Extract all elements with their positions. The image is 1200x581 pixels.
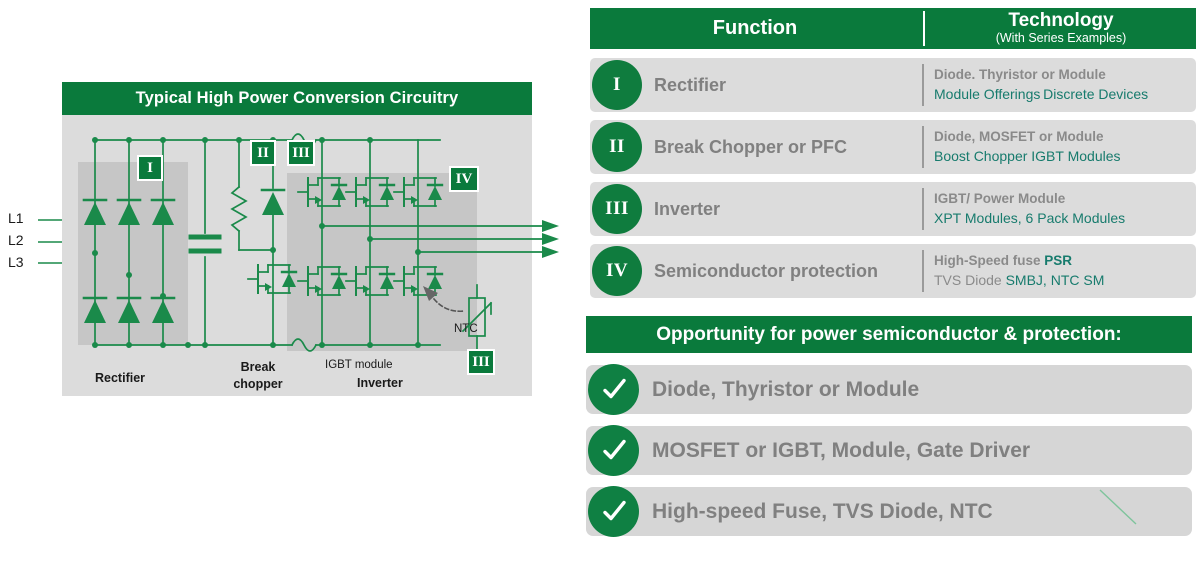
column-header-technology: Technology (With Series Examples)	[926, 8, 1196, 49]
label-ntc: NTC	[454, 323, 478, 335]
opportunity-item-label: MOSFET or IGBT, Module, Gate Driver	[652, 426, 1184, 475]
technology-line-2-gray: TVS Diode	[934, 272, 1006, 288]
table-row[interactable]: II Break Chopper or PFC Diode, MOSFET or…	[590, 120, 1196, 174]
row-function-label: Break Chopper or PFC	[654, 120, 914, 174]
diagram-badge-i: I	[137, 155, 163, 181]
row-technology: High-Speed fuse PSR TVS Diode SMBJ, NTC …	[934, 244, 1192, 298]
technology-line-2: Module Offerings Discrete Devices	[934, 85, 1192, 104]
table-row[interactable]: III Inverter IGBT/ Power Module XPT Modu…	[590, 182, 1196, 236]
table-header: Function Technology (With Series Example…	[590, 8, 1196, 49]
column-header-technology-title: Technology	[1008, 11, 1113, 31]
row-technology: Diode, MOSFET or Module Boost Chopper IG…	[934, 120, 1192, 174]
row-numeral-badge: II	[592, 122, 642, 172]
circuit-body: I II III IV III Rectifier Break chopper …	[62, 115, 532, 396]
label-rectifier: Rectifier	[95, 371, 145, 385]
technology-line-1-gray: Diode. Thyristor or Module	[934, 67, 1106, 82]
technology-line-1-teal: PSR	[1044, 253, 1072, 268]
technology-line-1: Diode, MOSFET or Module	[934, 128, 1192, 146]
table-row[interactable]: I Rectifier Diode. Thyristor or Module M…	[590, 58, 1196, 112]
technology-line-1-gray: Diode, MOSFET or Module	[934, 129, 1104, 144]
technology-line-2: XPT Modules, 6 Pack Modules	[934, 209, 1192, 228]
check-icon	[588, 486, 639, 537]
technology-line-2-teal: XPT Modules, 6 Pack Modules	[934, 210, 1125, 226]
diagram-badge-iv: IV	[449, 166, 479, 192]
technology-line-2-teal: Boost Chopper IGBT Modules	[934, 148, 1121, 164]
table-row[interactable]: IV Semiconductor protection High-Speed f…	[590, 244, 1196, 298]
label-igbt-module: IGBT module	[325, 359, 393, 371]
header-divider	[923, 11, 925, 46]
row-numeral-badge: I	[592, 60, 642, 110]
column-header-function: Function	[590, 8, 920, 49]
circuit-title: Typical High Power Conversion Circuitry	[136, 89, 459, 108]
check-icon	[588, 425, 639, 476]
technology-line-2: TVS Diode SMBJ, NTC SM	[934, 271, 1192, 290]
decorative-diagonal-line	[1100, 490, 1200, 580]
row-technology: Diode. Thyristor or Module Module Offeri…	[934, 58, 1192, 112]
slide-root: L1 L2 L3 Typical High Power Conversion C…	[0, 0, 1200, 581]
diagram-badge-ii: II	[250, 140, 276, 166]
technology-line-2: Boost Chopper IGBT Modules	[934, 147, 1192, 166]
opportunity-item-label: Diode, Thyristor or Module	[652, 365, 1184, 414]
technology-line-2-teal: SMBJ, NTC SM	[1006, 272, 1105, 288]
opportunity-item[interactable]: MOSFET or IGBT, Module, Gate Driver	[586, 426, 1192, 475]
label-break: Break	[223, 360, 293, 374]
row-divider	[922, 126, 924, 168]
diagram-badge-iii-top: III	[287, 140, 315, 166]
row-divider	[922, 188, 924, 230]
row-function-label: Rectifier	[654, 58, 914, 112]
diagram-badge-iii-bottom: III	[467, 349, 495, 375]
technology-line-1-gray: High-Speed fuse	[934, 253, 1044, 268]
label-inverter: Inverter	[357, 376, 403, 390]
row-divider	[922, 64, 924, 106]
opportunity-banner: Opportunity for power semiconductor & pr…	[586, 316, 1192, 353]
row-numeral-badge: IV	[592, 246, 642, 296]
opportunity-banner-text: Opportunity for power semiconductor & pr…	[656, 324, 1122, 346]
opportunity-item[interactable]: Diode, Thyristor or Module	[586, 365, 1192, 414]
column-header-technology-subtitle: (With Series Examples)	[996, 32, 1127, 45]
technology-line-2-teal: Module Offerings Discrete Devices	[934, 86, 1148, 102]
label-chopper: chopper	[223, 377, 293, 391]
circuit-title-bar: Typical High Power Conversion Circuitry	[62, 82, 532, 115]
technology-line-1: Diode. Thyristor or Module	[934, 66, 1192, 84]
row-numeral-badge: III	[592, 184, 642, 234]
technology-line-1: High-Speed fuse PSR	[934, 252, 1192, 270]
row-divider	[922, 250, 924, 292]
circuit-diagram-panel: Typical High Power Conversion Circuitry	[62, 82, 532, 396]
row-technology: IGBT/ Power Module XPT Modules, 6 Pack M…	[934, 182, 1192, 236]
row-function-label: Semiconductor protection	[654, 244, 914, 298]
technology-line-1-gray: IGBT/ Power Module	[934, 191, 1065, 206]
row-function-label: Inverter	[654, 182, 914, 236]
check-icon	[588, 364, 639, 415]
technology-line-1: IGBT/ Power Module	[934, 190, 1192, 208]
